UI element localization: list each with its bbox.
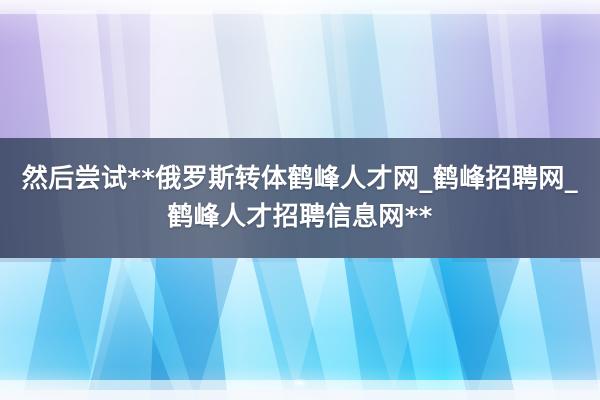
banner-headline: 然后尝试**俄罗斯转体鹤峰人才网_鹤峰招聘网_鹤峰人才招聘信息网** (10, 160, 590, 236)
light-sparkle-decoration (292, 378, 308, 388)
banner-image: 然后尝试**俄罗斯转体鹤峰人才网_鹤峰招聘网_鹤峰人才招聘信息网** (0, 0, 600, 400)
headline-overlay-band: 然后尝试**俄罗斯转体鹤峰人才网_鹤峰招聘网_鹤峰人才招聘信息网** (0, 138, 600, 258)
